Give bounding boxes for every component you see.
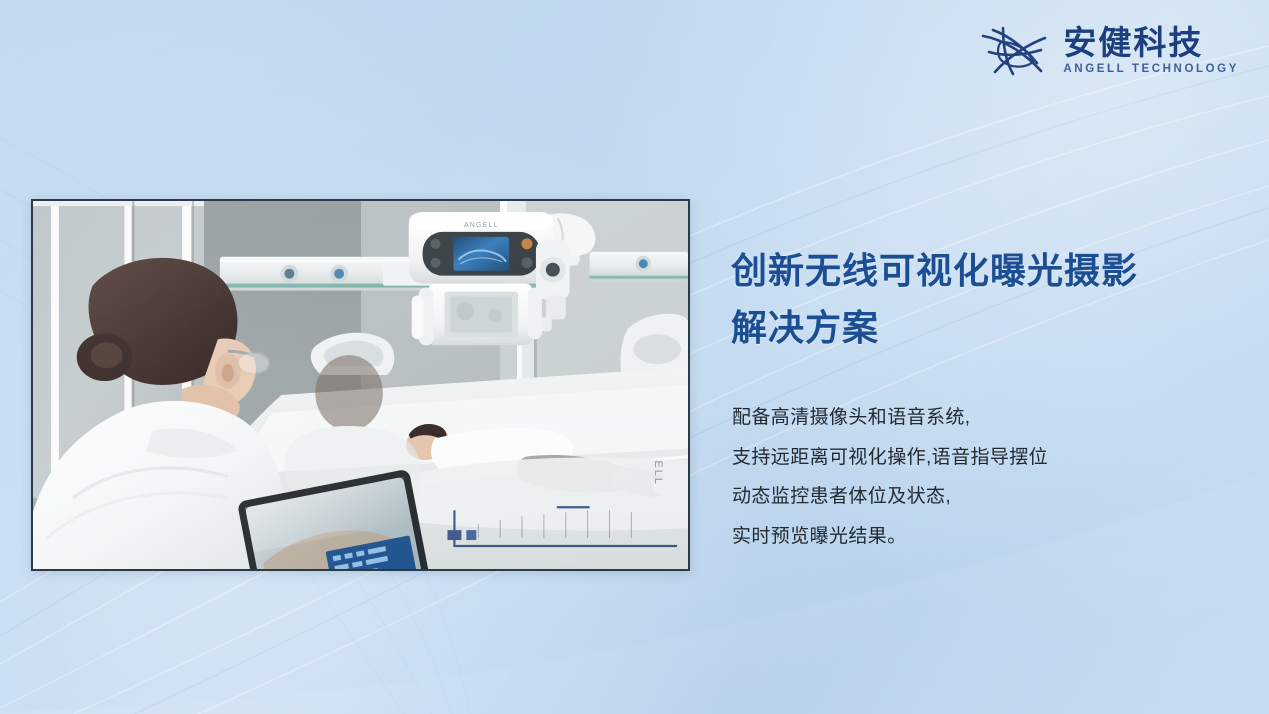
body-line-2: 支持远距离可视化操作,语音指导摆位 — [732, 438, 1222, 478]
logo-company-en: ANGELL TECHNOLOGY — [1063, 64, 1239, 76]
body-line-1: 配备高清摄像头和语音系统, — [732, 398, 1222, 438]
body-line-4: 实时预览曝光结果。 — [732, 517, 1222, 557]
logo-company-cn: 安健科技 — [1063, 26, 1239, 59]
headline-line-2: 解决方案 — [731, 300, 1231, 357]
product-photo: ANGELL — [31, 199, 690, 571]
logo-wordmark: 安健科技 ANGELL TECHNOLOGY — [1063, 26, 1239, 76]
presentation-slide: 安健科技 ANGELL TECHNOLOGY — [0, 0, 1269, 714]
company-logo: 安健科技 ANGELL TECHNOLOGY — [979, 22, 1239, 80]
body-line-3: 动态监控患者体位及状态, — [732, 477, 1222, 517]
angell-logo-mark-icon — [979, 22, 1051, 80]
headline-line-1: 创新无线可视化曝光摄影 — [731, 243, 1231, 300]
page-title: 创新无线可视化曝光摄影 解决方案 — [731, 243, 1231, 357]
description-text: 配备高清摄像头和语音系统, 支持远距离可视化操作,语音指导摆位 动态监控患者体位… — [732, 398, 1222, 556]
